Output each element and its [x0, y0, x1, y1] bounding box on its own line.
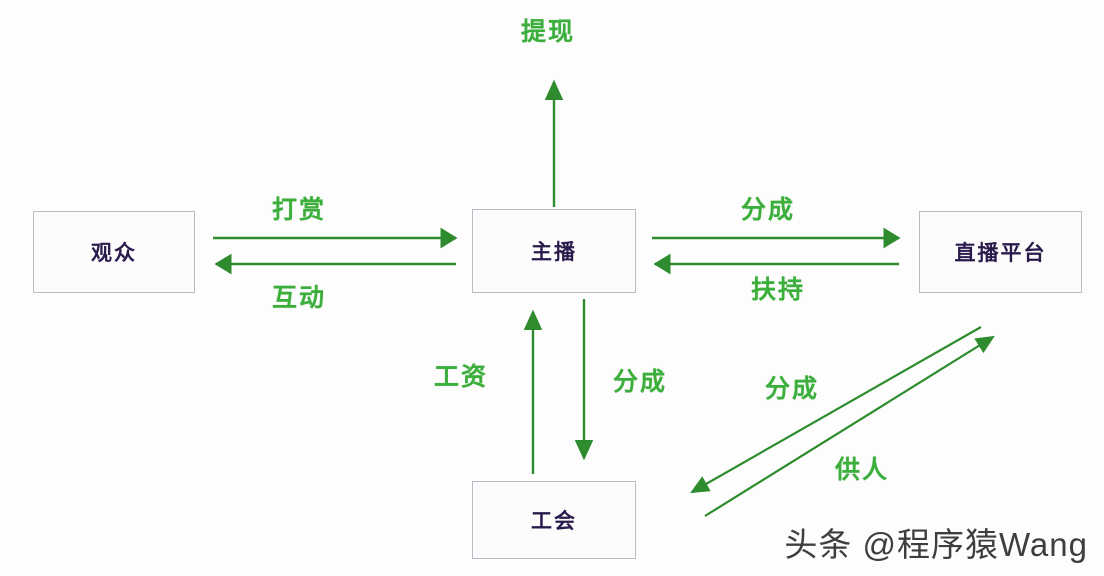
node-guild[interactable]: 工会	[472, 481, 636, 559]
edge-label-split-diagonal: 分成	[765, 369, 819, 405]
edge-label-salary: 工资	[434, 357, 488, 393]
node-guild-label: 工会	[531, 505, 577, 535]
arrow-supply	[705, 337, 993, 516]
edge-label-supply: 供人	[835, 450, 889, 486]
edge-label-interact: 互动	[272, 278, 326, 314]
node-audience-label: 观众	[91, 237, 137, 267]
edge-label-split-right: 分成	[741, 190, 795, 226]
edge-label-split-down: 分成	[613, 362, 667, 398]
watermark: 头条 @程序猿Wang	[784, 518, 1088, 566]
node-streamer[interactable]: 主播	[472, 209, 636, 293]
edge-label-withdraw: 提现	[521, 12, 575, 48]
node-streamer-label: 主播	[531, 236, 577, 266]
node-platform-label: 直播平台	[955, 237, 1047, 267]
diagram-canvas: 观众 主播 直播平台 工会 提现 打赏 互动 分成 扶持 工资 分成 分成 供人…	[0, 0, 1104, 576]
edge-label-support: 扶持	[751, 270, 805, 306]
edge-label-tip: 打赏	[272, 190, 326, 226]
node-platform[interactable]: 直播平台	[919, 211, 1082, 293]
node-audience[interactable]: 观众	[33, 211, 195, 293]
